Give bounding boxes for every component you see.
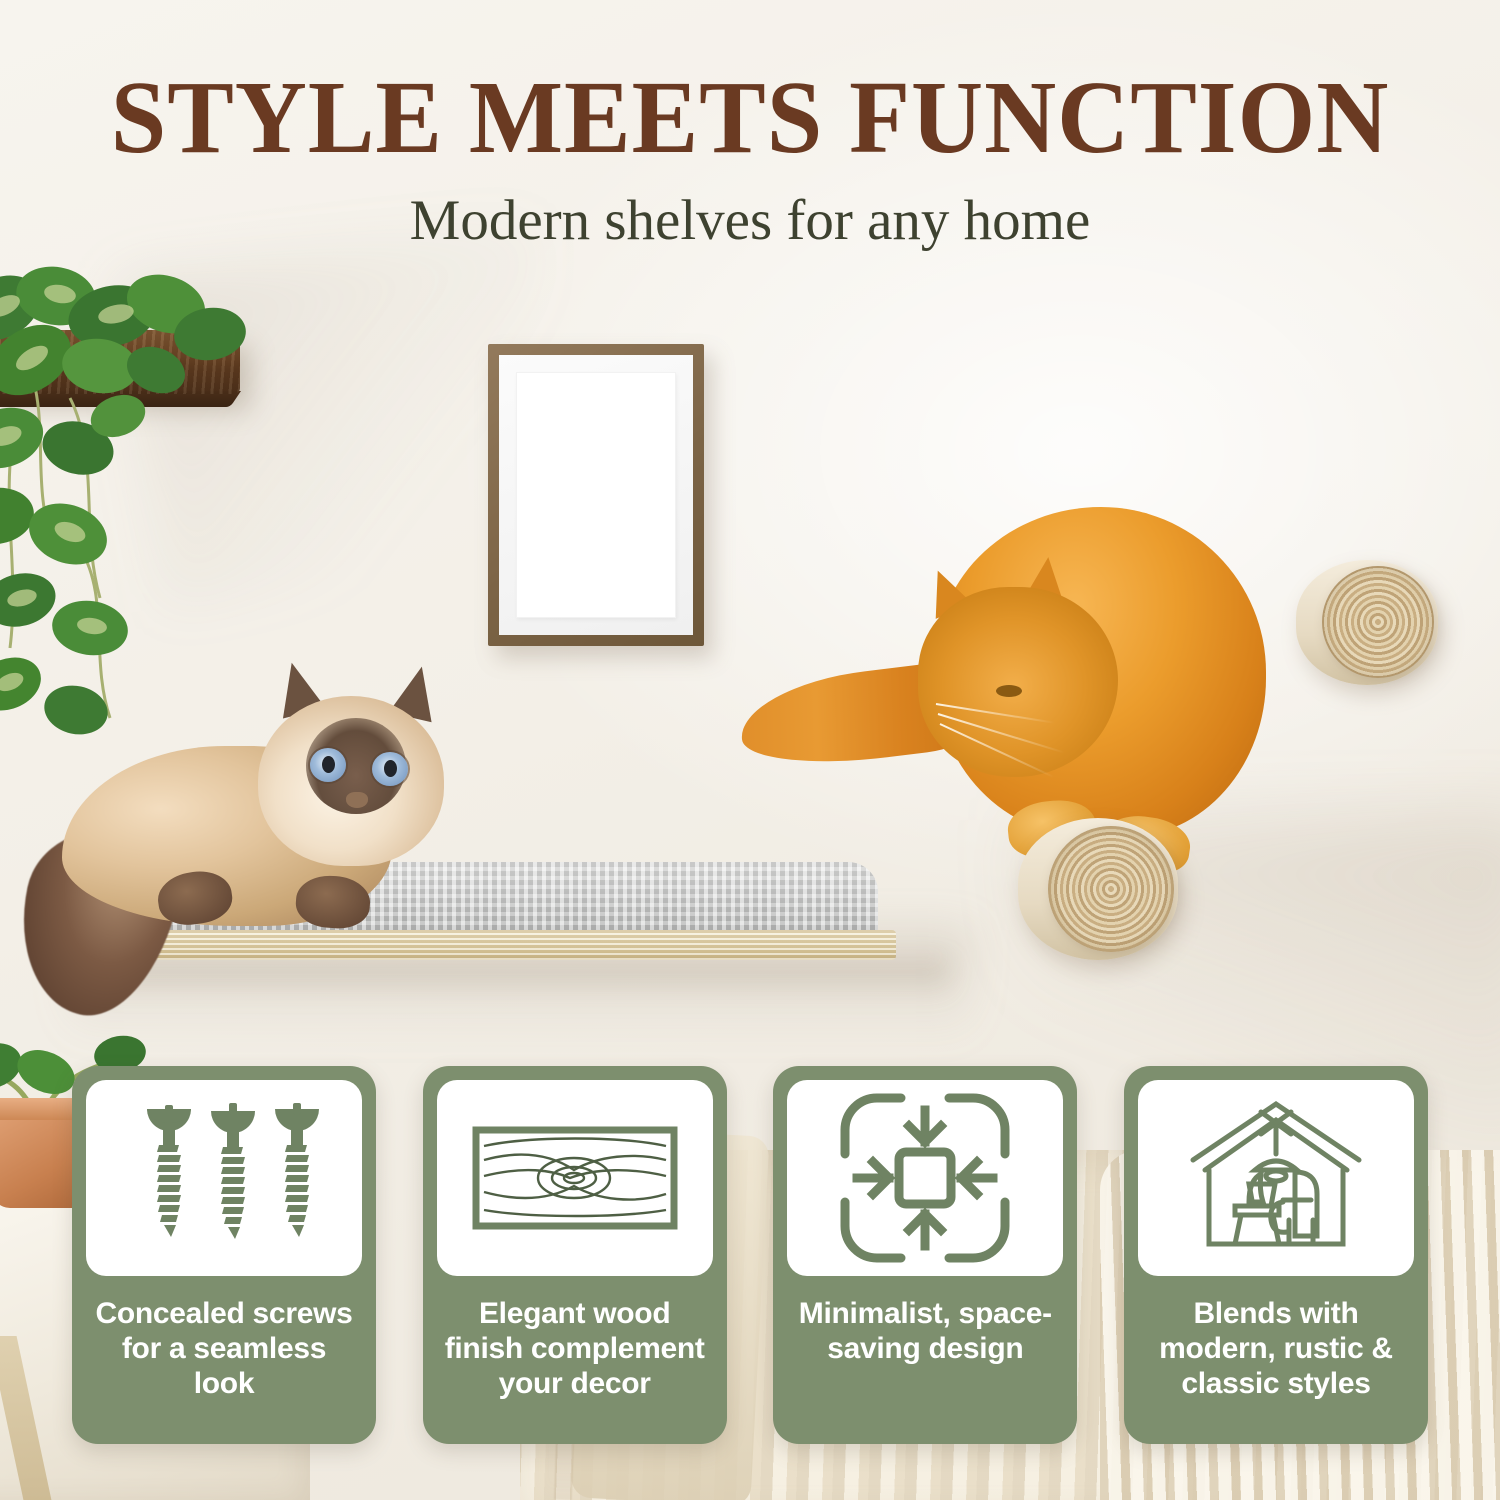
frame-artwork	[516, 372, 676, 618]
feature-card-row: Concealed screws for a seamless look	[72, 1066, 1428, 1444]
icon-plate	[787, 1080, 1063, 1276]
cat-pupil	[322, 756, 335, 773]
frame-mat	[499, 355, 693, 635]
feature-card-label: Concealed screws for a seamless look	[86, 1296, 362, 1401]
feature-card-blends-styles[interactable]: Blends with modern, rustic & classic sty…	[1124, 1066, 1428, 1444]
sisal-step-upper	[1296, 560, 1438, 685]
icon-plate	[86, 1080, 362, 1276]
wood-grain-icon	[470, 1118, 680, 1238]
cat-head	[918, 587, 1118, 777]
icon-plate	[1138, 1080, 1414, 1276]
feature-card-space-saving[interactable]: Minimalist, space-saving design	[773, 1066, 1077, 1444]
page-headline: STYLE MEETS FUNCTION	[30, 66, 1470, 170]
product-lifestyle-scene: STYLE MEETS FUNCTION Modern shelves for …	[0, 0, 1500, 1500]
compress-arrows-icon	[837, 1090, 1013, 1266]
screws-icon	[129, 1103, 319, 1253]
picture-frame	[488, 344, 704, 646]
sisal-rope-face	[1322, 566, 1434, 678]
siamese-cat	[10, 640, 480, 1040]
feature-card-wood-finish[interactable]: Elegant wood finish complement your deco…	[423, 1066, 727, 1444]
feature-card-label: Minimalist, space-saving design	[787, 1296, 1063, 1366]
cat-pupil	[384, 760, 397, 777]
feature-card-concealed-screws[interactable]: Concealed screws for a seamless look	[72, 1066, 376, 1444]
cat-nose	[346, 792, 368, 808]
sisal-step-lower	[1018, 818, 1178, 960]
cat-eye	[996, 685, 1022, 697]
house-interior-icon	[1183, 1098, 1369, 1258]
icon-plate	[437, 1080, 713, 1276]
feature-card-label: Blends with modern, rustic & classic sty…	[1138, 1296, 1414, 1401]
feature-card-label: Elegant wood finish complement your deco…	[437, 1296, 713, 1401]
orange-tabby-cat	[740, 495, 1260, 915]
sisal-rope-face	[1048, 826, 1174, 952]
page-subheadline: Modern shelves for any home	[0, 190, 1500, 253]
